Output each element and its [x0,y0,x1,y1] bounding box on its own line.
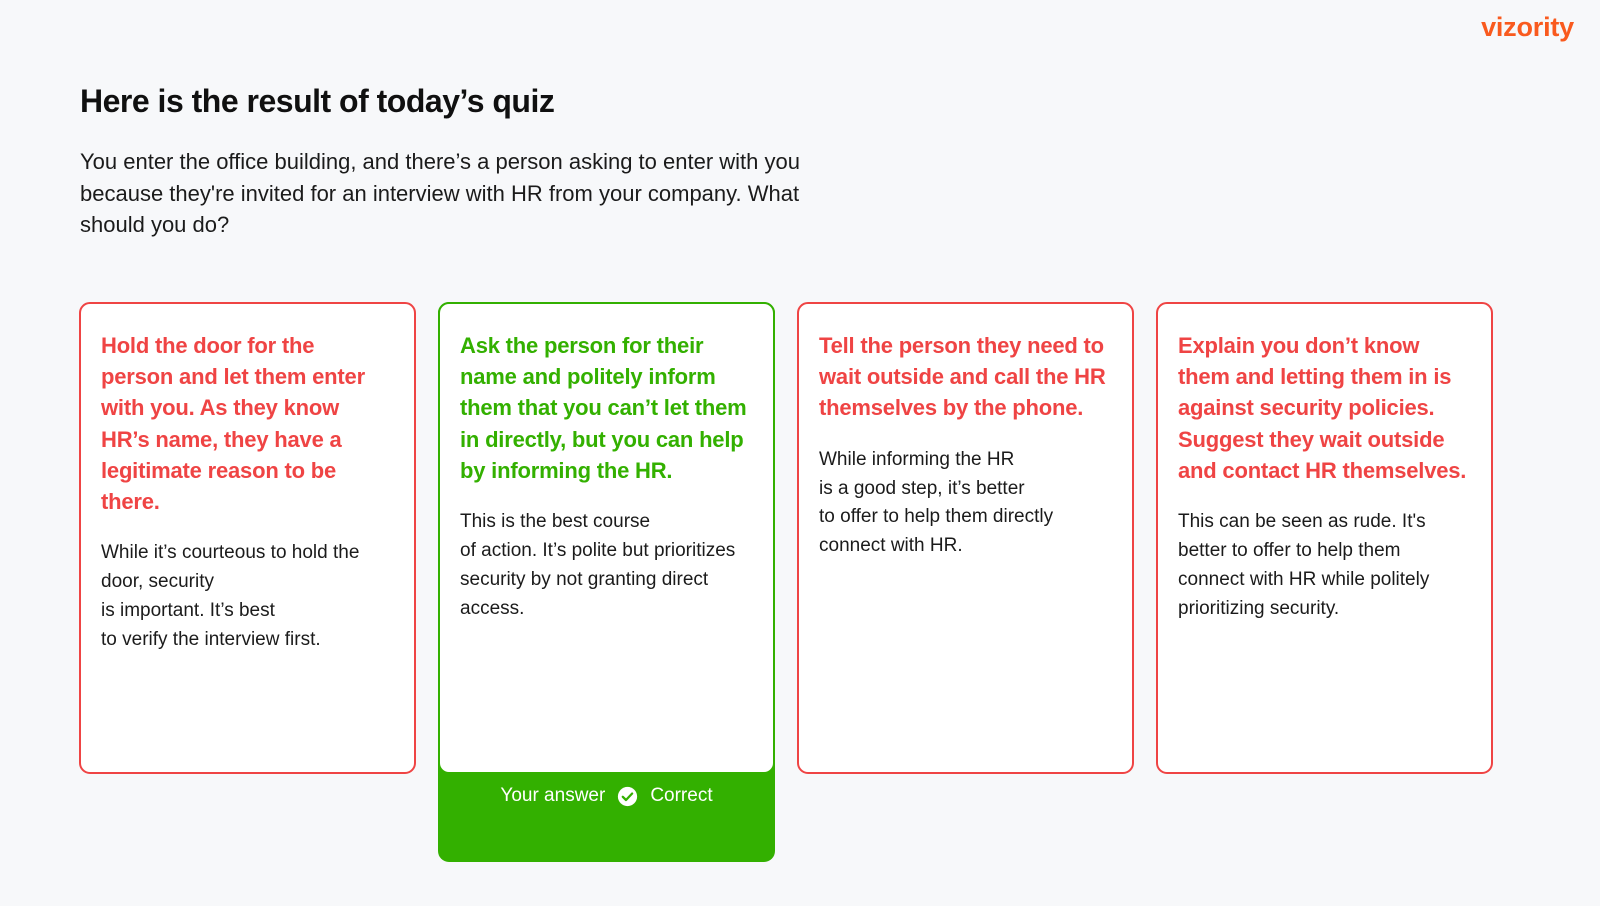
answer-card-4[interactable]: Explain you don’t know them and letting … [1156,302,1493,774]
check-circle-icon [617,786,638,807]
answer-card-body: Ask the person for their name and polite… [438,302,775,774]
answer-card-explanation: This can be seen as rude. It's better to… [1178,508,1469,624]
answer-card-heading: Ask the person for their name and polite… [460,330,751,486]
header: Here is the result of today’s quiz You e… [80,82,840,241]
answer-card-body: Explain you don’t know them and letting … [1156,302,1493,774]
your-answer-banner: Your answer Correct [438,774,775,818]
answer-card-1[interactable]: Hold the door for the person and let the… [79,302,416,774]
answer-cards-row: Hold the door for the person and let the… [79,302,1519,862]
answer-card-2[interactable]: Ask the person for their name and polite… [438,302,775,862]
answer-card-shell: Ask the person for their name and polite… [438,302,775,862]
answer-card-heading: Explain you don’t know them and letting … [1178,330,1469,486]
brand-logo: vizority [1481,12,1574,43]
answer-card-explanation: While informing the HR is a good step, i… [819,446,1110,562]
answer-card-heading: Tell the person they need to wait outsid… [819,330,1110,424]
verdict-label: Correct [650,785,712,807]
page-title: Here is the result of today’s quiz [80,82,840,120]
answer-card-body: Tell the person they need to wait outsid… [797,302,1134,774]
answer-card-3[interactable]: Tell the person they need to wait outsid… [797,302,1134,774]
answer-card-heading: Hold the door for the person and let the… [101,330,392,517]
answer-card-explanation: While it’s courteous to hold the door, s… [101,539,392,655]
quiz-question: You enter the office building, and there… [80,146,840,240]
answer-card-body: Hold the door for the person and let the… [79,302,416,774]
your-answer-label: Your answer [500,785,605,807]
answer-card-explanation: This is the best course of action. It’s … [460,508,751,624]
